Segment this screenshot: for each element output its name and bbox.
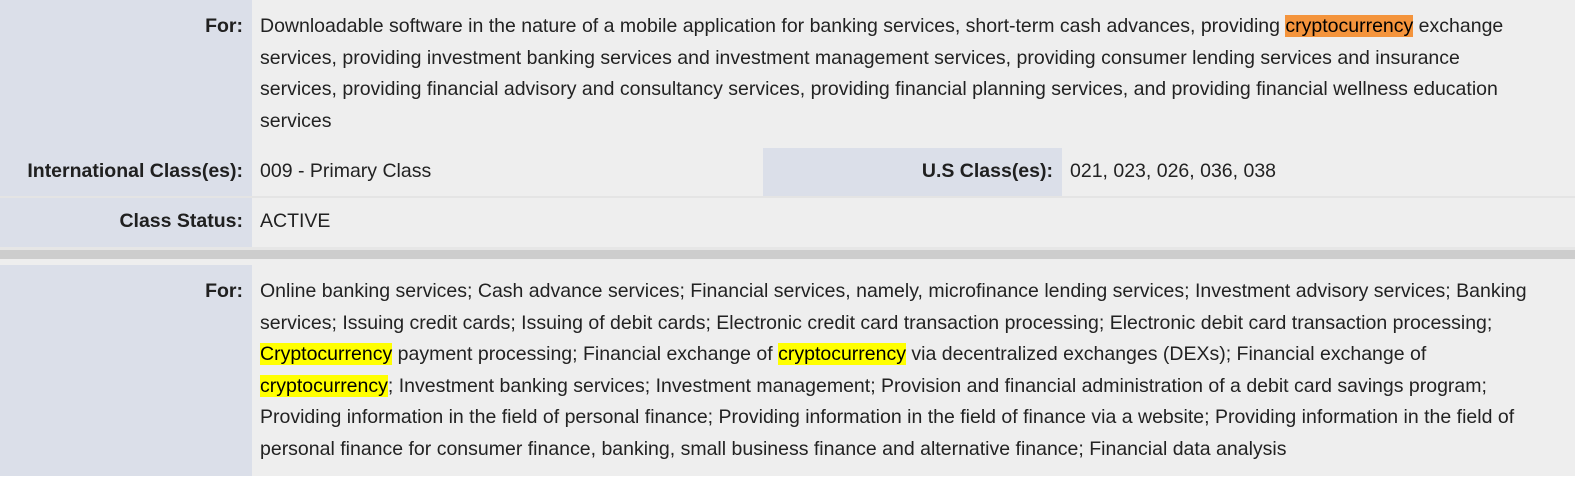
goods-and-services-record: For: Downloadable software in the nature… xyxy=(0,0,1575,476)
class-status-value: ACTIVE xyxy=(252,198,1575,248)
goods-services-section-1: For: Downloadable software in the nature… xyxy=(0,0,1575,247)
international-class-label: International Class(es): xyxy=(0,148,252,196)
international-class-value: 009 - Primary Class xyxy=(252,148,763,196)
section-divider-band xyxy=(0,250,1575,259)
class-status-row: Class Status: ACTIVE xyxy=(0,198,1575,248)
for-statement-text: Downloadable software in the nature of a… xyxy=(252,0,1575,148)
class-row: International Class(es): 009 - Primary C… xyxy=(0,148,1575,196)
for-statement-text: Online banking services; Cash advance se… xyxy=(252,265,1575,476)
for-label: For: xyxy=(0,265,252,476)
for-label: For: xyxy=(0,0,252,148)
section-divider xyxy=(0,247,1575,265)
class-status-label: Class Status: xyxy=(0,198,252,248)
highlighted-term: Cryptocurrency xyxy=(260,343,392,365)
highlighted-term: cryptocurrency xyxy=(1285,15,1413,37)
us-class-label: U.S Class(es): xyxy=(763,148,1062,196)
for-statement-row: For: Online banking services; Cash advan… xyxy=(0,265,1575,476)
us-class-value: 021, 023, 026, 036, 038 xyxy=(1062,148,1575,196)
highlighted-term: cryptocurrency xyxy=(778,343,906,365)
for-statement-row: For: Downloadable software in the nature… xyxy=(0,0,1575,148)
highlighted-term: cryptocurrency xyxy=(260,375,388,397)
goods-services-section-2: For: Online banking services; Cash advan… xyxy=(0,265,1575,476)
